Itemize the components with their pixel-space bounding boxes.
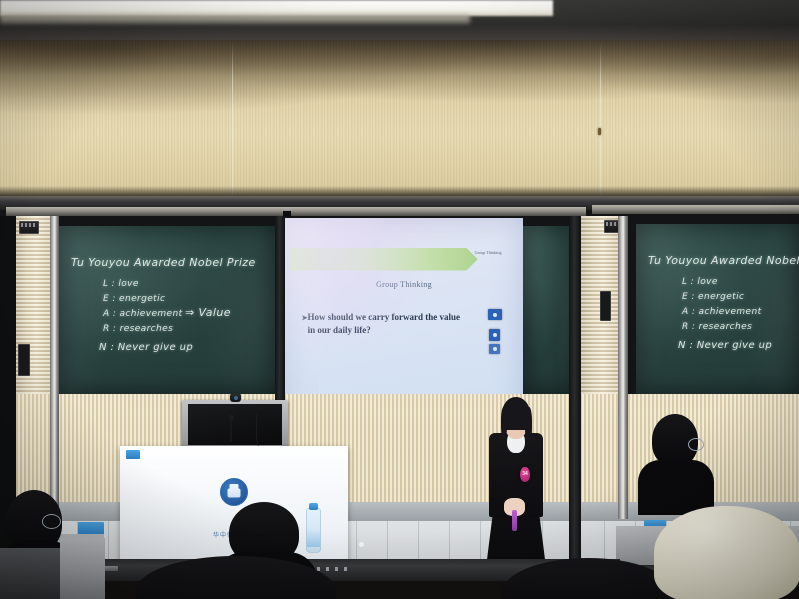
slide-question: ➤How should we carry forward the value i… [302,311,511,337]
audience-light-hair [654,506,799,599]
board-track-post [618,394,628,519]
webcam-icon [230,394,241,402]
display-source-button[interactable] [489,329,500,341]
ceiling-light-glow [0,14,470,24]
presenter-badge-number: 34 [520,467,529,483]
display-menu-button[interactable] [488,309,502,320]
board-divider-post [569,394,581,581]
wall-seam [232,42,233,198]
wall-fixture [598,128,601,135]
blackboard-left-line-1: E : energetic [103,294,165,304]
blackboard-right-title: Tu Youyou Awarded Nobel Prize [648,254,799,267]
blackboard-center-right-panel [523,226,571,394]
light-switch-plate[interactable] [18,344,30,376]
slide-title: Group Thinking [285,280,523,289]
blackboard-right-line-0: L : love [682,277,718,287]
presenter: 34 [480,400,552,575]
slide-question-line-2: in our daily life? [308,324,371,337]
wood-paneled-wall [0,40,799,200]
seated-student-body [638,460,714,515]
blackboard-left-line-0: L : love [103,279,139,289]
floor-object [359,542,364,547]
presenter-hair-left [501,407,507,439]
university-emblem-icon [220,478,248,506]
blackboard-left-last-line: N : Never give up [99,342,193,353]
light-switch-plate[interactable] [600,291,611,321]
blackboard-right-line-2: A : achievement [682,307,762,317]
board-rail-segment [592,205,799,214]
blackboard-left-title: Tu Youyou Awarded Nobel Prize [71,256,256,269]
blackboard-right-line-3: R : researches [682,322,752,332]
blackboard-left-line-2: A : achievement [103,309,183,319]
podium-blue-tag [126,450,140,459]
foreground-desk-side [60,538,105,599]
cable [256,414,267,448]
slide-question-line-1: How should we carry forward the value [308,312,461,322]
blackboard-left-arrow-note: ⇒ Value [185,306,231,319]
water-bottle [306,508,321,553]
wall-plate-icon [19,221,39,234]
slide-topbar [290,248,478,271]
presenter-badge: 34 [520,467,529,483]
blackboard-right-last-line: N : Never give up [678,340,772,351]
glasses-icon [688,438,704,451]
podium-monitor-screen [188,404,281,446]
microphone-icon [230,418,232,442]
bottle-label [307,531,320,547]
lecture-hall-photo: Tu Youyou Awarded Nobel Prize L : love E… [0,0,799,599]
glasses-icon [42,514,61,529]
bottle-cap [309,503,318,510]
blackboard-right-line-1: E : energetic [682,292,744,302]
blackboard-left: Tu Youyou Awarded Nobel Prize L : love E… [59,226,275,394]
display-extra-button[interactable] [489,344,500,354]
presenter-hair-right [525,407,532,442]
podium-monitor [182,400,288,452]
slide-topbar-label: Group Thinking [475,250,502,255]
presenter-clicker [512,510,517,531]
wall-seam [600,42,601,198]
blackboard-left-line-3: R : researches [103,324,173,334]
blackboard-right: Tu Youyou Awarded Nobel Prize L : love E… [636,224,799,394]
board-rail-segment [6,207,586,216]
